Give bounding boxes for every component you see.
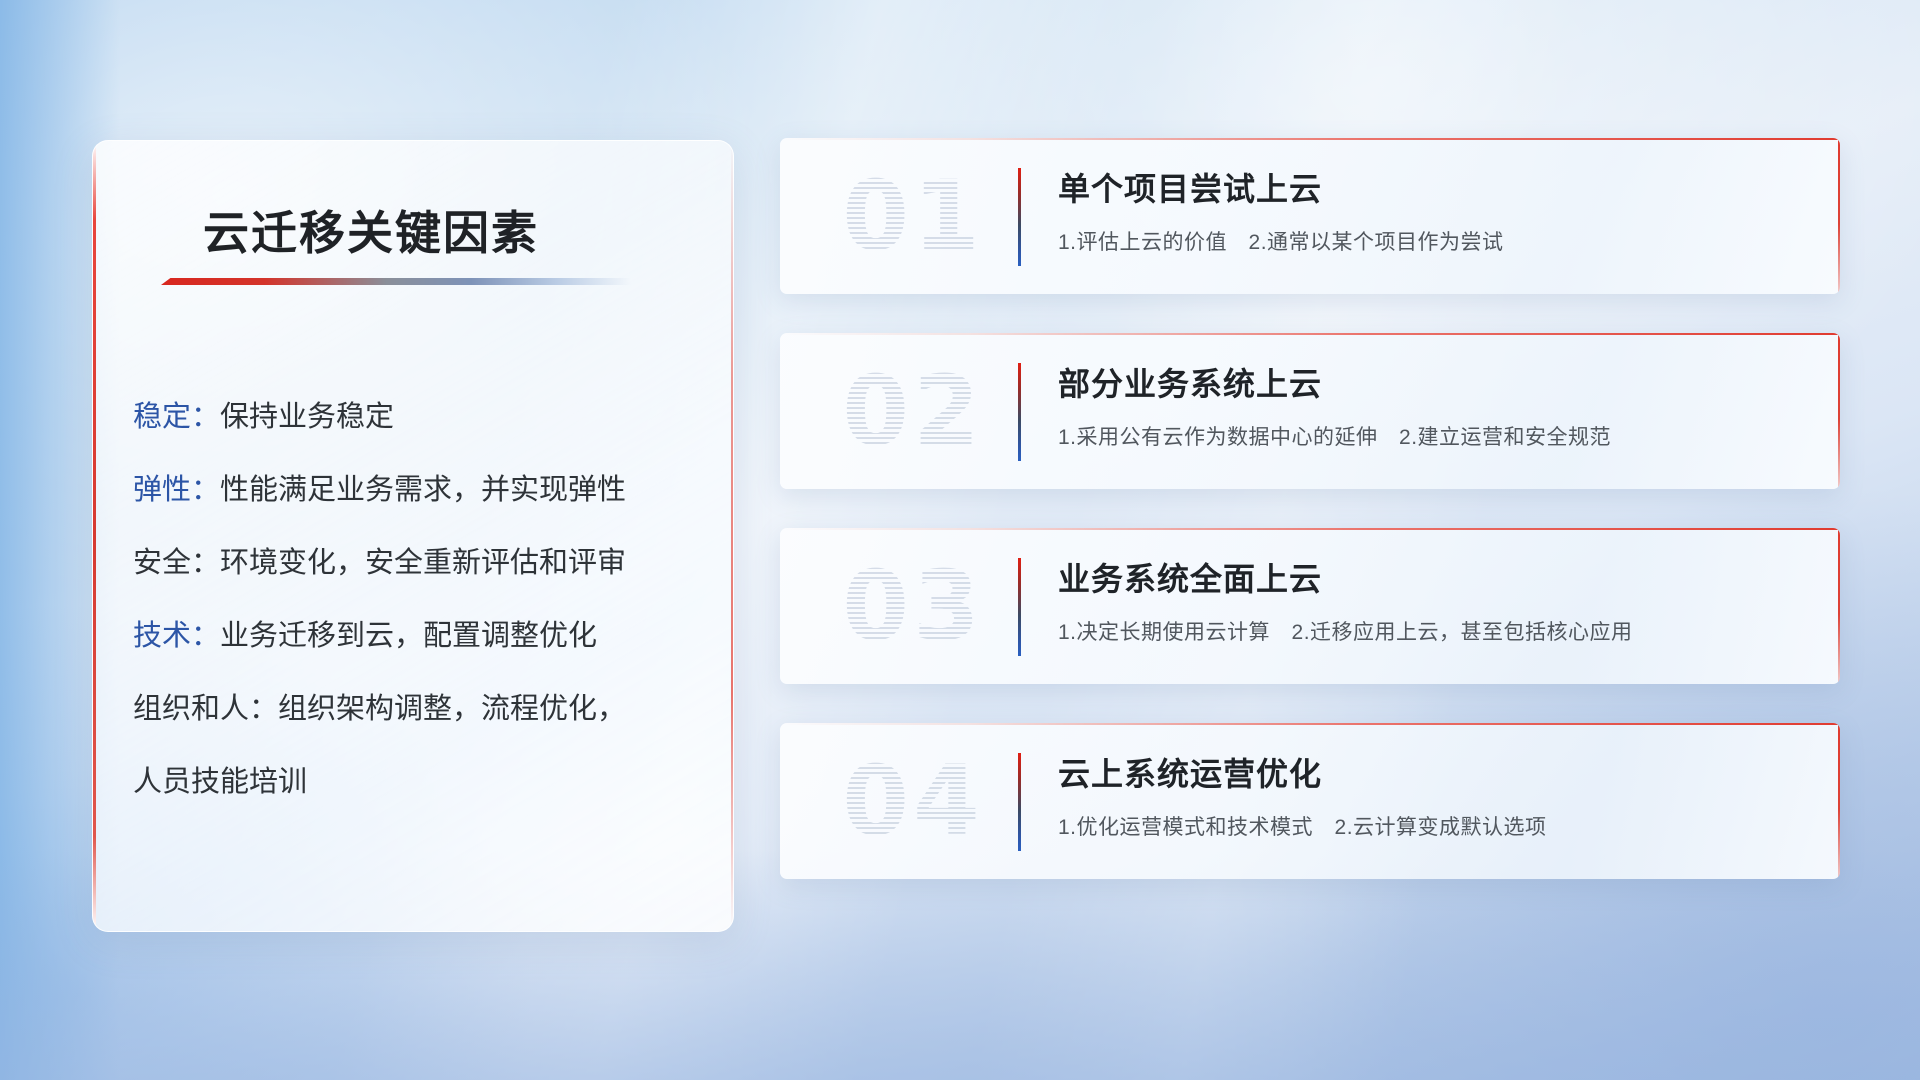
stage-card-01[interactable]: 01 单个项目尝试上云 1.评估上云的价值 2.通常以某个项目作为尝试 — [780, 138, 1840, 294]
factor-list: 稳定：保持业务稳定 弹性：性能满足业务需求，并实现弹性 安全：环境变化，安全重新… — [133, 381, 699, 819]
factor-text: 环境变化，安全重新评估和评审 — [220, 547, 626, 579]
stage-subtitle: 1.评估上云的价值 2.通常以某个项目作为尝试 — [1058, 226, 1504, 256]
factor-label: 安全： — [133, 547, 220, 579]
stage-subtitle: 1.采用公有云作为数据中心的延伸 2.建立运营和安全规范 — [1058, 421, 1611, 451]
stage-number-04: 04 — [818, 737, 1008, 865]
stage-divider-bar — [1018, 753, 1021, 851]
factor-text: 人员技能培训 — [133, 766, 307, 798]
factor-text: 保持业务稳定 — [220, 401, 394, 433]
factor-label: 技术： — [133, 620, 220, 652]
stage-divider-bar — [1018, 168, 1021, 266]
stage-card-04[interactable]: 04 云上系统运营优化 1.优化运营模式和技术模式 2.云计算变成默认选项 — [780, 723, 1840, 879]
stage-card-02[interactable]: 02 部分业务系统上云 1.采用公有云作为数据中心的延伸 2.建立运营和安全规范 — [780, 333, 1840, 489]
title-underline-gradient — [161, 278, 631, 285]
factor-label: 组织和人： — [133, 693, 278, 725]
list-item: 稳定：保持业务稳定 — [133, 381, 699, 454]
list-item: 技术：业务迁移到云，配置调整优化 — [133, 600, 699, 673]
stage-title: 云上系统运营优化 — [1058, 749, 1322, 795]
stage-divider-bar — [1018, 363, 1021, 461]
stage-card-content: 04 云上系统运营优化 1.优化运营模式和技术模式 2.云计算变成默认选项 — [780, 723, 1840, 879]
page-title: 云迁移关键因素 — [203, 197, 539, 263]
list-item: 弹性：性能满足业务需求，并实现弹性 — [133, 454, 699, 527]
stage-number-01: 01 — [818, 152, 1008, 280]
stage-card-03[interactable]: 03 业务系统全面上云 1.决定长期使用云计算 2.迁移应用上云，甚至包括核心应… — [780, 528, 1840, 684]
stage-subtitle: 1.决定长期使用云计算 2.迁移应用上云，甚至包括核心应用 — [1058, 616, 1633, 646]
stage-title: 业务系统全面上云 — [1058, 554, 1322, 600]
factor-text: 组织架构调整，流程优化， — [278, 693, 626, 725]
stage-card-content: 03 业务系统全面上云 1.决定长期使用云计算 2.迁移应用上云，甚至包括核心应… — [780, 528, 1840, 684]
stage-subtitle: 1.优化运营模式和技术模式 2.云计算变成默认选项 — [1058, 811, 1547, 841]
stage-card-content: 01 单个项目尝试上云 1.评估上云的价值 2.通常以某个项目作为尝试 — [780, 138, 1840, 294]
stage-card-list: 01 单个项目尝试上云 1.评估上云的价值 2.通常以某个项目作为尝试 02 部… — [780, 138, 1840, 918]
stage-number-02: 02 — [818, 347, 1008, 475]
stage-title: 部分业务系统上云 — [1058, 359, 1322, 405]
stage-number-03: 03 — [818, 542, 1008, 670]
factor-text: 业务迁移到云，配置调整优化 — [220, 620, 597, 652]
list-item: 安全：环境变化，安全重新评估和评审 — [133, 527, 699, 600]
factor-label: 稳定： — [133, 401, 220, 433]
key-factors-panel: 云迁移关键因素 稳定：保持业务稳定 弹性：性能满足业务需求，并实现弹性 安全：环… — [92, 140, 734, 932]
stage-title: 单个项目尝试上云 — [1058, 164, 1322, 210]
factor-text: 性能满足业务需求，并实现弹性 — [220, 474, 626, 506]
stage-divider-bar — [1018, 558, 1021, 656]
factor-label: 弹性： — [133, 474, 220, 506]
list-item: 人员技能培训 — [133, 746, 699, 819]
stage-card-content: 02 部分业务系统上云 1.采用公有云作为数据中心的延伸 2.建立运营和安全规范 — [780, 333, 1840, 489]
list-item: 组织和人：组织架构调整，流程优化， — [133, 673, 699, 746]
